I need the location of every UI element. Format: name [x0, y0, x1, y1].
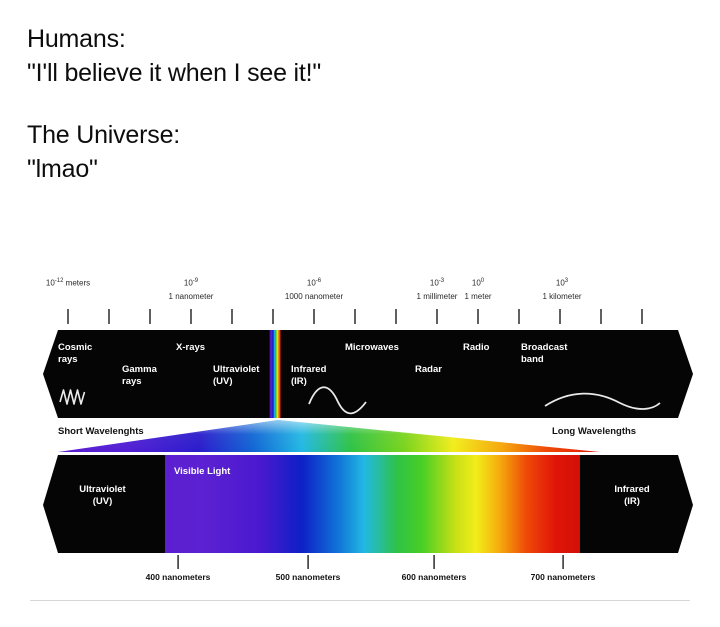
electromagnetic-spectrum-figure: 10-12 meters 10-9 1 nanometer 10-6 1000 …: [0, 262, 720, 622]
bottom-divider: [30, 600, 690, 601]
band-label-cosmic-rays: Cosmic rays: [58, 342, 92, 366]
scale-label-1e-12: 10-12 meters: [46, 278, 90, 288]
bottom-scale-ticks: [177, 555, 564, 569]
band-label-ultraviolet: Ultraviolet (UV): [213, 364, 259, 388]
band-label-broadcast: Broadcast band: [521, 342, 567, 366]
scale-sub-kilometer: 1 kilometer: [542, 292, 581, 301]
scale-label-1e-9: 10-9: [184, 278, 198, 288]
band-label-infrared: Infrared (IR): [291, 364, 326, 388]
scale-label-1e3: 103: [556, 278, 568, 288]
scale-label-1e-3: 10-3: [430, 278, 444, 288]
scale-sub-nanometer: 1 nanometer: [169, 292, 214, 301]
scale-label-1e0: 100: [472, 278, 484, 288]
band-label-radar: Radar: [415, 364, 442, 376]
band-label-x-rays: X-rays: [176, 342, 205, 354]
caption-line-humans-quote: "I'll believe it when I see it!": [27, 56, 687, 90]
top-scale-ticks: [67, 309, 643, 324]
band-label-radio: Radio: [463, 342, 489, 354]
caption-line-universe-quote: "lmao": [27, 152, 687, 186]
caption-spacer: [27, 90, 687, 118]
visible-light-strip: [270, 330, 281, 418]
spectrum-svg: [0, 262, 720, 622]
scale-sub-millimeter: 1 millimeter: [417, 292, 458, 301]
lower-band-label-infrared: Infrared (IR): [582, 484, 682, 508]
caption-line-universe: The Universe:: [27, 118, 687, 152]
nm-label-500: 500 nanometers: [276, 572, 341, 582]
band-label-microwaves: Microwaves: [345, 342, 399, 354]
short-wavelengths-label: Short Wavelenghts: [58, 426, 144, 437]
long-wavelengths-label: Long Wavelengths: [552, 426, 636, 437]
lower-band-label-ultraviolet: Ultraviolet (UV): [45, 484, 160, 508]
nm-label-400: 400 nanometers: [146, 572, 211, 582]
meme-caption: Humans: "I'll believe it when I see it!"…: [27, 22, 687, 186]
nm-label-600: 600 nanometers: [402, 572, 467, 582]
scale-sub-1000-nanometer: 1000 nanometer: [285, 292, 343, 301]
band-label-gamma-rays: Gamma rays: [122, 364, 157, 388]
caption-line-humans: Humans:: [27, 22, 687, 56]
scale-label-1e-6: 10-6: [307, 278, 321, 288]
nm-label-700: 700 nanometers: [531, 572, 596, 582]
scale-sub-meter: 1 meter: [464, 292, 491, 301]
visible-light-label: Visible Light: [174, 466, 230, 477]
